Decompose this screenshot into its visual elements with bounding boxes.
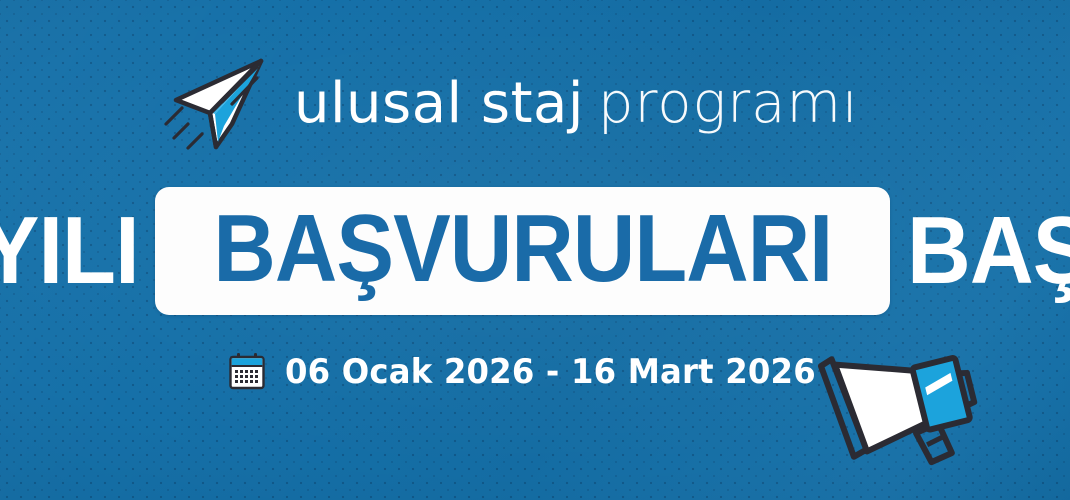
paper-plane-icon [158,52,278,156]
brand-logo-lockup: ulusal staj programı [158,52,859,156]
brand-word-primary: ulusal staj [294,76,584,132]
megaphone-icon [812,332,988,472]
headline-highlight-box: BAŞVURULARI [155,187,891,315]
headline: 26 YILI BAŞVURULARI BAŞLA [0,184,1070,318]
headline-left-text: 26 YILI [0,203,139,299]
headline-right-text: BAŞLA [907,203,1070,299]
date-range-text: 06 Ocak 2026 - 16 Mart 2026 [285,352,816,392]
headline-boxed-text: BAŞVURULARI [213,201,832,297]
promo-banner: ulusal staj programı 26 YILI BAŞVURULARI… [0,0,1070,500]
brand-wordmark: ulusal staj programı [294,76,859,132]
calendar-icon [227,352,267,392]
brand-word-secondary: programı [598,76,859,132]
